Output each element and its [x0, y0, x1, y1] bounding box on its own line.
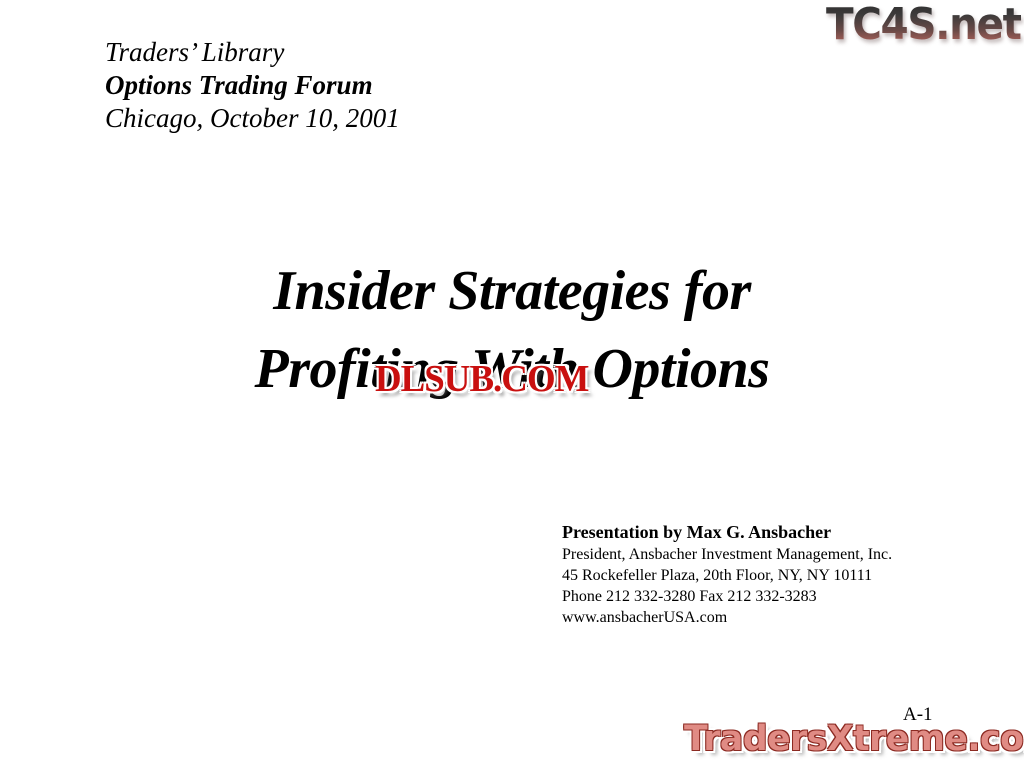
- header-line-organization: Traders’ Library: [105, 36, 625, 69]
- presenter-address: 45 Rockefeller Plaza, 20th Floor, NY, NY…: [562, 565, 982, 586]
- title-line-1: Insider Strategies for: [0, 252, 1024, 330]
- presentation-slide: TC4S.net Traders’ Library Options Tradin…: [0, 0, 1024, 768]
- presenter-phone-fax: Phone 212 332-3280 Fax 212 332-3283: [562, 586, 982, 607]
- presenter-website: www.ansbacherUSA.com: [562, 607, 982, 628]
- tc4s-logo: TC4S.net: [826, 2, 1021, 48]
- header-line-location-date: Chicago, October 10, 2001: [105, 102, 625, 135]
- dlsub-watermark: DLSUB.COM: [375, 357, 588, 401]
- event-header: Traders’ Library Options Trading Forum C…: [105, 36, 625, 135]
- presenter-name: Presentation by Max G. Ansbacher: [562, 521, 982, 544]
- presenter-title: President, Ansbacher Investment Manageme…: [562, 544, 982, 565]
- tradersxtreme-logo: TradersXtreme.com: [684, 719, 1024, 759]
- presenter-block: Presentation by Max G. Ansbacher Preside…: [562, 521, 982, 628]
- header-line-event: Options Trading Forum: [105, 69, 625, 102]
